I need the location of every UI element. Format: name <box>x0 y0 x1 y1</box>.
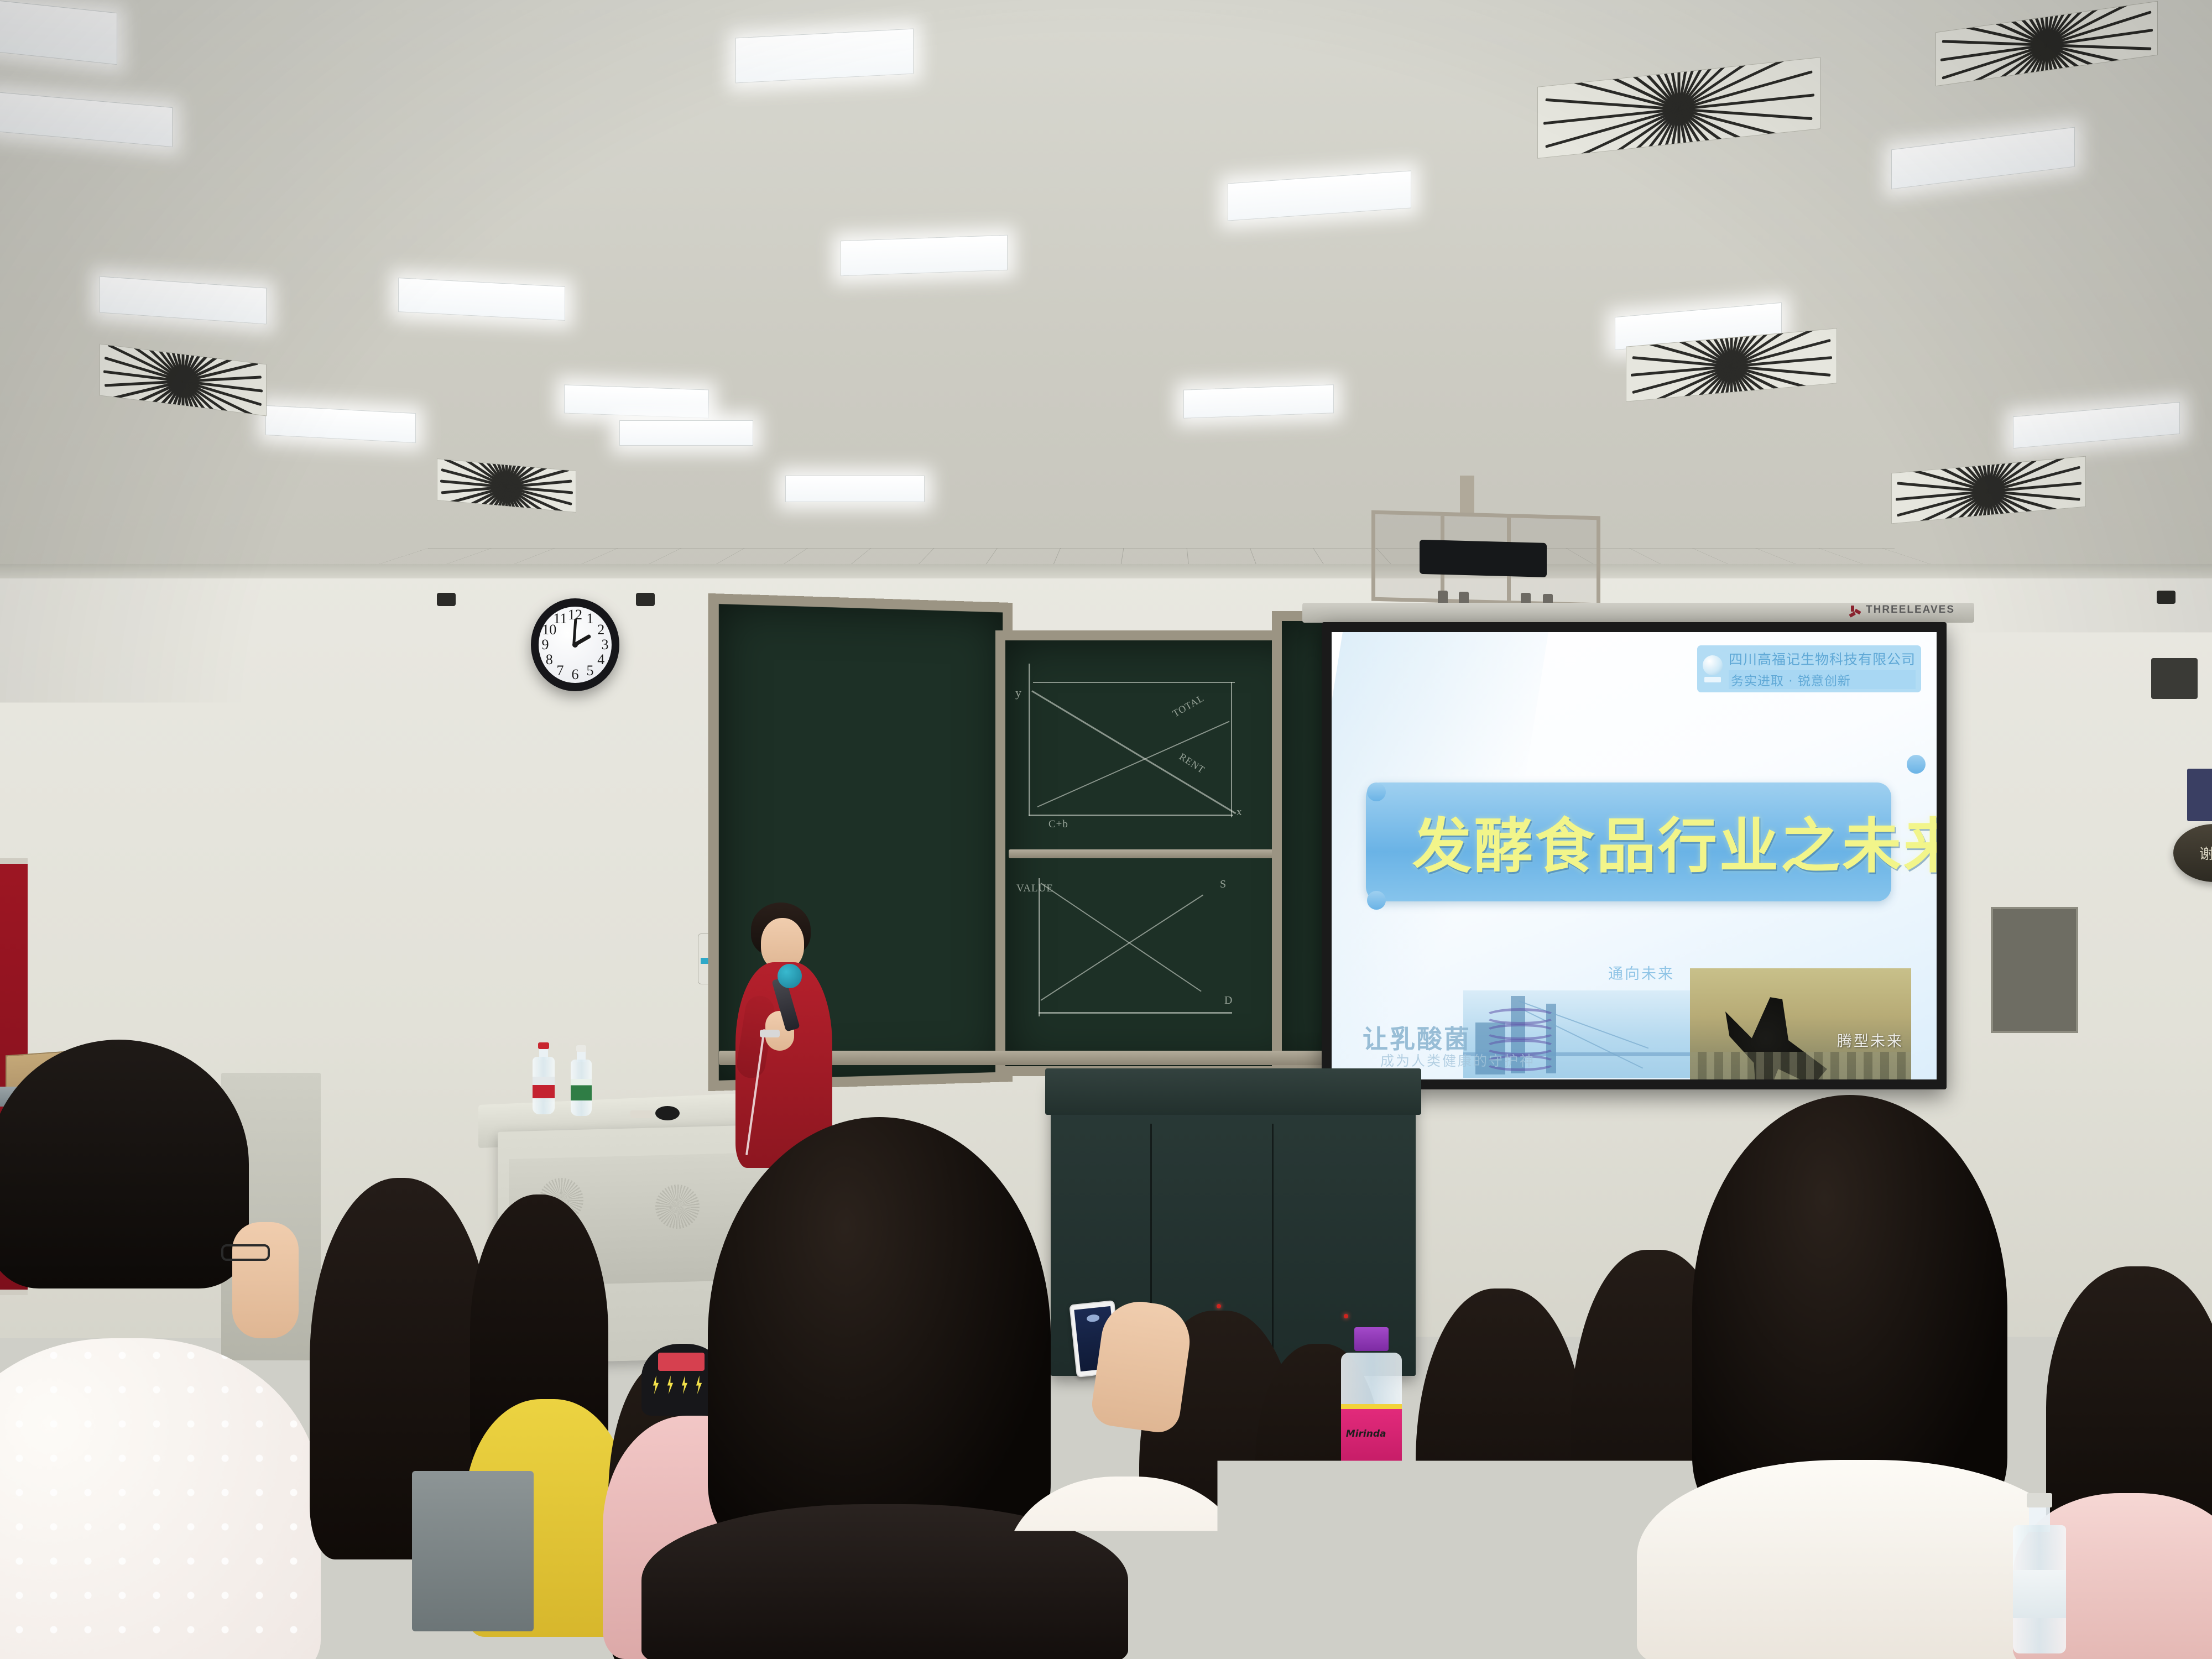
wall-top-rail <box>0 564 2212 578</box>
company-logo-badge: 四川高福记生物科技有限公司 务实进取 · 锐意创新 <box>1697 645 1921 692</box>
chalk-line-top-edge <box>1033 682 1235 683</box>
wall-clock: 121234567891011 <box>531 598 619 691</box>
chalk-label-total: TOTAL <box>1171 692 1206 719</box>
juice-cup <box>1302 1488 1333 1593</box>
clock-center-pin <box>572 642 578 648</box>
lightning-bolt-icon <box>651 1375 660 1394</box>
audience-shirt-lace <box>1006 1477 1244 1659</box>
chalk-label-x: x <box>1237 806 1243 818</box>
chalk-axis-x-2 <box>1039 1012 1232 1014</box>
projector-security-cage <box>1371 510 1600 607</box>
cabinet-top-cap <box>1045 1068 1421 1115</box>
chalk-axis-y-2 <box>1039 878 1040 1016</box>
audience-hair-center <box>708 1117 1051 1554</box>
chalk-label-cb: C+b <box>1048 818 1068 831</box>
company-name: 四川高福记生物科技有限公司 <box>1729 649 1916 669</box>
globe-base <box>1704 677 1721 682</box>
eagle-city-photo: 腾型未来 <box>1690 968 1911 1079</box>
audience-hand-glasses <box>232 1222 299 1338</box>
ceiling-light-panel <box>785 476 925 502</box>
chalk-axis-y <box>1029 664 1030 816</box>
projector-mount-pole <box>1460 476 1474 514</box>
microphone-head <box>778 964 802 988</box>
audience-hair <box>0 1040 249 1288</box>
clock-numeral: 6 <box>572 666 579 683</box>
ceiling-light-panel <box>735 29 914 84</box>
slide-footer-sub: 成为人类健康的守护神 <box>1380 1050 1535 1070</box>
clock-numeral: 9 <box>542 637 549 653</box>
screen-brand-label: THREELEAVES <box>1866 604 1955 616</box>
bottle-label <box>571 1079 592 1100</box>
podium-speaker-grille <box>655 1185 700 1229</box>
eagle-photo-caption: 腾型未来 <box>1837 1029 1903 1051</box>
chalk-label-value: VALUE <box>1016 883 1053 895</box>
bottle-cap <box>576 1045 586 1052</box>
mirinda-label: Mirinda <box>1341 1404 1402 1475</box>
chalkboard-sliding-panel: y TOTAL RENT C+b x VALUE S D <box>995 630 1314 1076</box>
security-camera-icon <box>2157 591 2176 604</box>
lecture-hall-scene: 谢谢 121234567891011 y TOTAL RENT C+b x VA… <box>0 0 2212 1659</box>
projection-screen-frame: 四川高福记生物科技有限公司 务实进取 · 锐意创新 发酵食品行业之未来 <box>1322 622 1947 1089</box>
title-plate-knob-top-right <box>1907 755 1926 774</box>
glasses-icon <box>221 1244 270 1261</box>
title-plate-knob-bottom-left <box>1367 891 1386 910</box>
clock-numeral: 7 <box>557 662 564 679</box>
chalk-label-y: y <box>1015 686 1022 700</box>
company-logo-text: 四川高福记生物科技有限公司 务实进取 · 锐意创新 <box>1729 649 1916 689</box>
lightning-bolt-icon <box>680 1375 689 1394</box>
chalk-label-s: S <box>1220 878 1227 891</box>
slide-title: 发酵食品行业之未来 <box>1412 798 1937 884</box>
threeleaves-logo-icon <box>1847 604 1861 616</box>
wall-plaque-square <box>2187 769 2212 821</box>
clock-numeral: 2 <box>597 622 604 638</box>
globe-trophy-icon <box>1701 655 1724 683</box>
bridge-photo-caption: 通向未来 <box>1608 962 1674 983</box>
chalk-line-s <box>1040 895 1203 1001</box>
lightning-bolt-icon <box>666 1375 675 1394</box>
clock-numeral: 4 <box>597 651 604 668</box>
podium-cable-coil <box>655 1106 680 1120</box>
audience-polka-dots <box>0 1338 321 1659</box>
chalk-axis-x <box>1029 815 1233 816</box>
ceiling <box>0 0 2212 619</box>
cap-patch <box>658 1353 705 1371</box>
security-camera-icon <box>636 593 655 606</box>
photo-scanline-artifact <box>0 1640 2212 1644</box>
clock-numeral: 5 <box>587 662 594 679</box>
bottle-cap <box>538 1042 549 1049</box>
cabinet-power-led <box>1217 1304 1221 1308</box>
bottle-cap <box>2027 1493 2052 1507</box>
chair-back <box>412 1471 534 1631</box>
lightning-bolt-icon <box>695 1375 703 1394</box>
bottle-label <box>533 1077 555 1098</box>
water-bottle-red <box>533 1042 555 1114</box>
bottle-label <box>2013 1570 2066 1618</box>
ceiling-light-panel <box>564 384 709 418</box>
security-camera-icon <box>437 593 456 606</box>
mirinda-bottle: Mirinda <box>1341 1327 1402 1510</box>
ceiling-light-panel <box>841 235 1008 276</box>
title-plate-knob-left <box>1367 782 1386 801</box>
chalk-label-rent: RENT <box>1177 751 1207 776</box>
ceiling-light-panel <box>1183 384 1334 418</box>
podium-remote <box>630 1110 653 1118</box>
globe-ball <box>1703 655 1723 675</box>
chalk-tray-middle <box>1009 849 1280 858</box>
chalk-label-d: D <box>1224 994 1233 1007</box>
mirinda-cap <box>1354 1327 1389 1351</box>
projector-body <box>1420 540 1547 577</box>
presenter-wristwatch <box>760 1030 780 1037</box>
cabinet-door-seam <box>1272 1124 1274 1376</box>
ceiling-light-panel <box>619 420 753 446</box>
water-bottle-green <box>571 1045 592 1116</box>
city-skyline <box>1690 1052 1911 1079</box>
presentation-slide: 四川高福记生物科技有限公司 务实进取 · 锐意创新 发酵食品行业之未来 <box>1332 632 1937 1079</box>
clock-numeral: 1 <box>587 611 594 627</box>
screen-brand: THREELEAVES <box>1847 604 1955 616</box>
mirinda-brand-text: Mirinda <box>1346 1428 1386 1439</box>
clock-numeral: 8 <box>546 651 553 668</box>
clock-numeral: 11 <box>553 611 567 627</box>
chalk-line-d <box>1040 883 1201 992</box>
water-bottle-right <box>2013 1493 2066 1653</box>
clock-numeral: 3 <box>602 637 609 653</box>
chalk-line-right-edge <box>1231 682 1232 817</box>
wall-notice-frame <box>1991 907 2078 1033</box>
cabinet-power-led <box>1344 1314 1348 1318</box>
company-slogan: 务实进取 · 锐意创新 <box>1729 670 1916 689</box>
wall-speaker <box>2151 658 2198 699</box>
